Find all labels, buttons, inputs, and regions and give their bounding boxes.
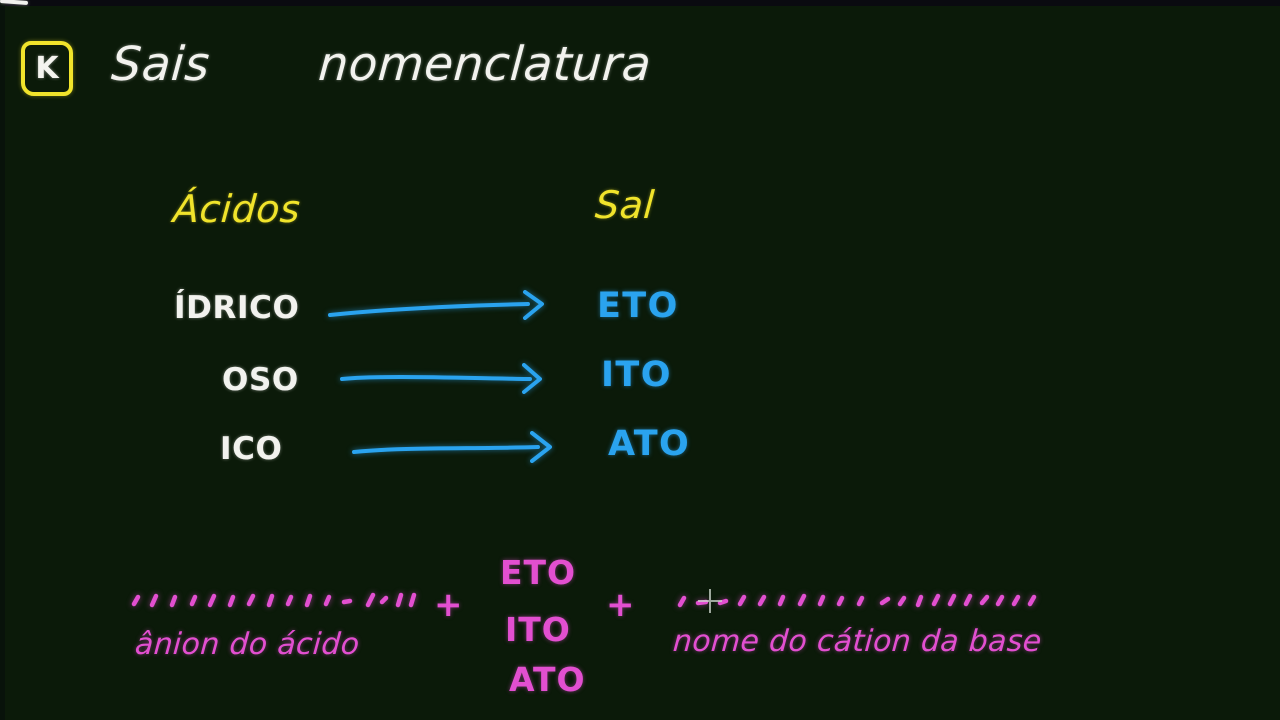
frame-edge-top — [0, 0, 1280, 6]
title-word-sais: Sais — [110, 37, 212, 92]
crosshair-cursor-icon — [698, 589, 722, 613]
plus-operator-2: + — [606, 588, 636, 622]
salt-suffix-ito: ITO — [601, 358, 672, 393]
khan-academy-logo: K — [21, 41, 73, 96]
plus-operator-1: + — [434, 588, 464, 622]
formula-suffix-eto: ETO — [500, 556, 576, 589]
dashed-blank-left — [130, 592, 420, 612]
logo-letter-k: K — [25, 45, 69, 92]
label-nome-do-cation-da-base: nome do cátion da base — [672, 627, 1043, 657]
formula-suffix-ato: ATO — [509, 663, 586, 696]
title-word-nomenclatura: nomenclatura — [317, 37, 654, 92]
arrow-right-icon-row-2 — [340, 357, 556, 397]
page-title: Sais nomenclatura — [110, 41, 653, 88]
formula-suffix-ito: ITO — [505, 613, 571, 646]
salt-suffix-eto: ETO — [597, 289, 679, 324]
acid-suffix-ico: ICO — [220, 434, 283, 465]
acid-suffix-idrico: ÍDRICO — [174, 293, 300, 324]
column-header-sal: Sal — [594, 186, 656, 224]
arrow-right-icon-row-3 — [352, 428, 564, 468]
arrow-right-icon-row-1 — [328, 288, 556, 328]
acid-suffix-oso: OSO — [222, 365, 299, 396]
column-header-acidos: Ácidos — [172, 190, 302, 228]
blackboard-canvas: K Sais nomenclatura Ácidos Sal ÍDRICO OS… — [0, 0, 1280, 720]
dashed-blank-right — [676, 592, 1044, 612]
salt-suffix-ato: ATO — [608, 427, 690, 462]
cursor-horizontal-bar — [698, 600, 722, 602]
label-anion-do-acido: ânion do ácido — [134, 630, 360, 660]
frame-edge-left — [0, 0, 5, 720]
